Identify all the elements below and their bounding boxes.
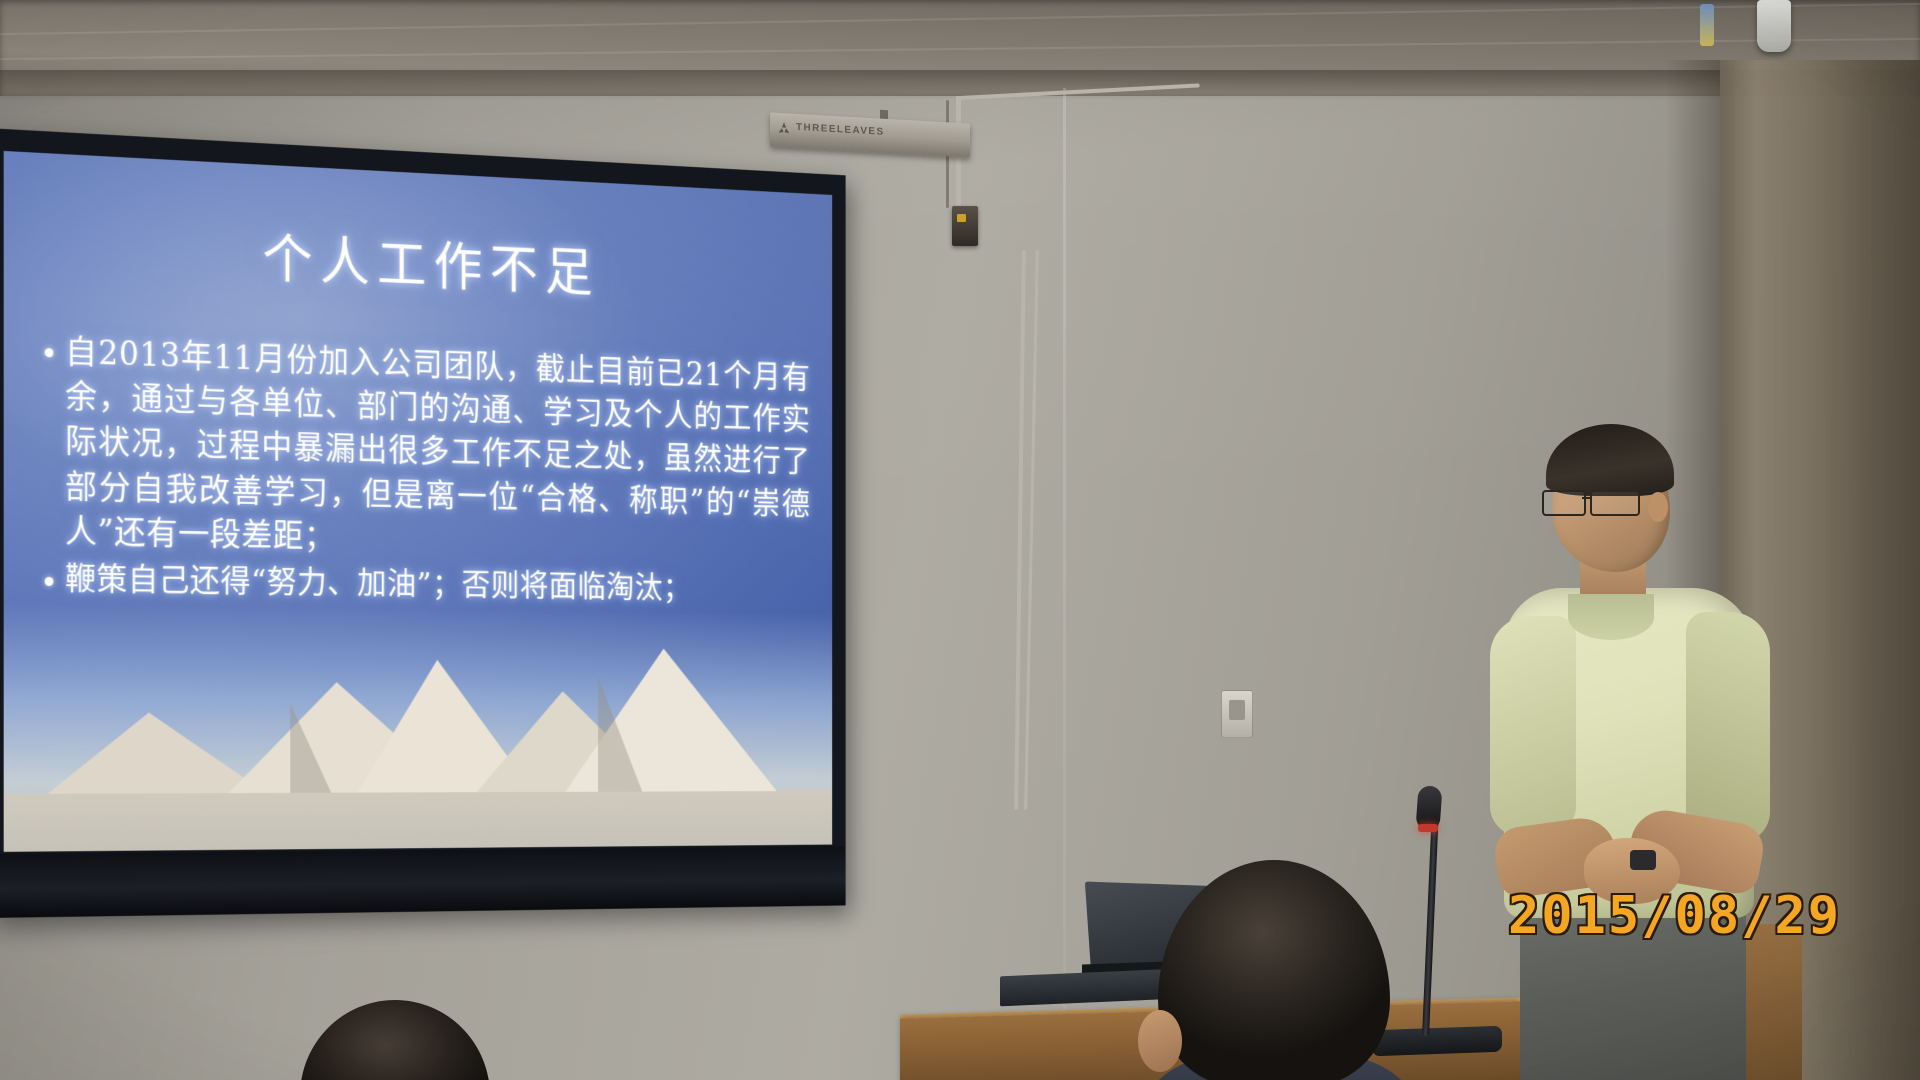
audience-head <box>1158 860 1390 1080</box>
seated-audience-front <box>1130 860 1430 1080</box>
socket-outlet-icon <box>1229 700 1245 720</box>
mountain-shadow <box>290 703 333 796</box>
bullet-dot-icon <box>45 577 54 586</box>
camera-date-stamp: 2015/08/29 <box>1508 886 1841 946</box>
eyeglass-lens-left <box>1542 490 1586 516</box>
presentation-clicker[interactable] <box>1630 850 1656 870</box>
presenter-hair <box>1546 424 1674 496</box>
slide-bullet-text: 自2013年11月份加入公司团队，截止目前已21个月有余，通过与各单位、部门的沟… <box>65 329 810 567</box>
audience-ear <box>1138 1010 1182 1072</box>
three-leaf-icon <box>776 120 792 137</box>
standing-presenter <box>1480 430 1820 1080</box>
indicator-led-icon <box>957 214 966 222</box>
ceiling-sprinkler-head <box>1700 4 1714 46</box>
ceiling-light-fixture <box>1757 0 1791 52</box>
bullet-dot-icon <box>45 348 54 357</box>
eyeglass-lens-right <box>1590 490 1640 516</box>
projector-brand-label: THREELEAVES <box>796 122 885 138</box>
audience-head <box>300 1000 490 1080</box>
screen-bottom-bar <box>0 846 846 918</box>
slide-body: 自2013年11月份加入公司团队，截止目前已21个月有余，通过与各单位、部门的沟… <box>41 328 810 615</box>
microphone-led-icon <box>1418 824 1438 832</box>
wall-control-box[interactable] <box>952 206 978 246</box>
projection-screen: 个人工作不足 自2013年11月份加入公司团队，截止目前已21个月有余，通过与各… <box>0 128 846 918</box>
mountain-peak <box>563 648 780 796</box>
seated-audience-bottom-left <box>300 1000 550 1080</box>
slide-bullet-item: 自2013年11月份加入公司团队，截止目前已21个月有余，通过与各单位、部门的沟… <box>41 328 810 567</box>
photograph-scene: THREELEAVES 个人工作不足 自20 <box>0 0 1920 1080</box>
slide-surface: 个人工作不足 自2013年11月份加入公司团队，截止目前已21个月有余，通过与各… <box>4 151 832 852</box>
wall-power-socket[interactable] <box>1221 690 1253 738</box>
mountain-shadow <box>598 676 644 795</box>
eyeglasses-icon <box>1542 490 1652 514</box>
slide-bullet-text: 鞭策自己还得“努力、加油”；否则将面临淘汰； <box>65 557 810 611</box>
wall-seam <box>1063 88 1066 1080</box>
slide-title: 个人工作不足 <box>4 203 832 316</box>
slide-bullet-item: 鞭策自己还得“努力、加油”；否则将面临淘汰； <box>41 557 810 611</box>
presenter-sleeve-left <box>1490 616 1576 836</box>
slide-mountain-artwork <box>4 602 832 852</box>
slide-ground <box>4 791 832 852</box>
presenter-collar <box>1568 594 1654 640</box>
presenter-sleeve-right <box>1686 612 1770 842</box>
